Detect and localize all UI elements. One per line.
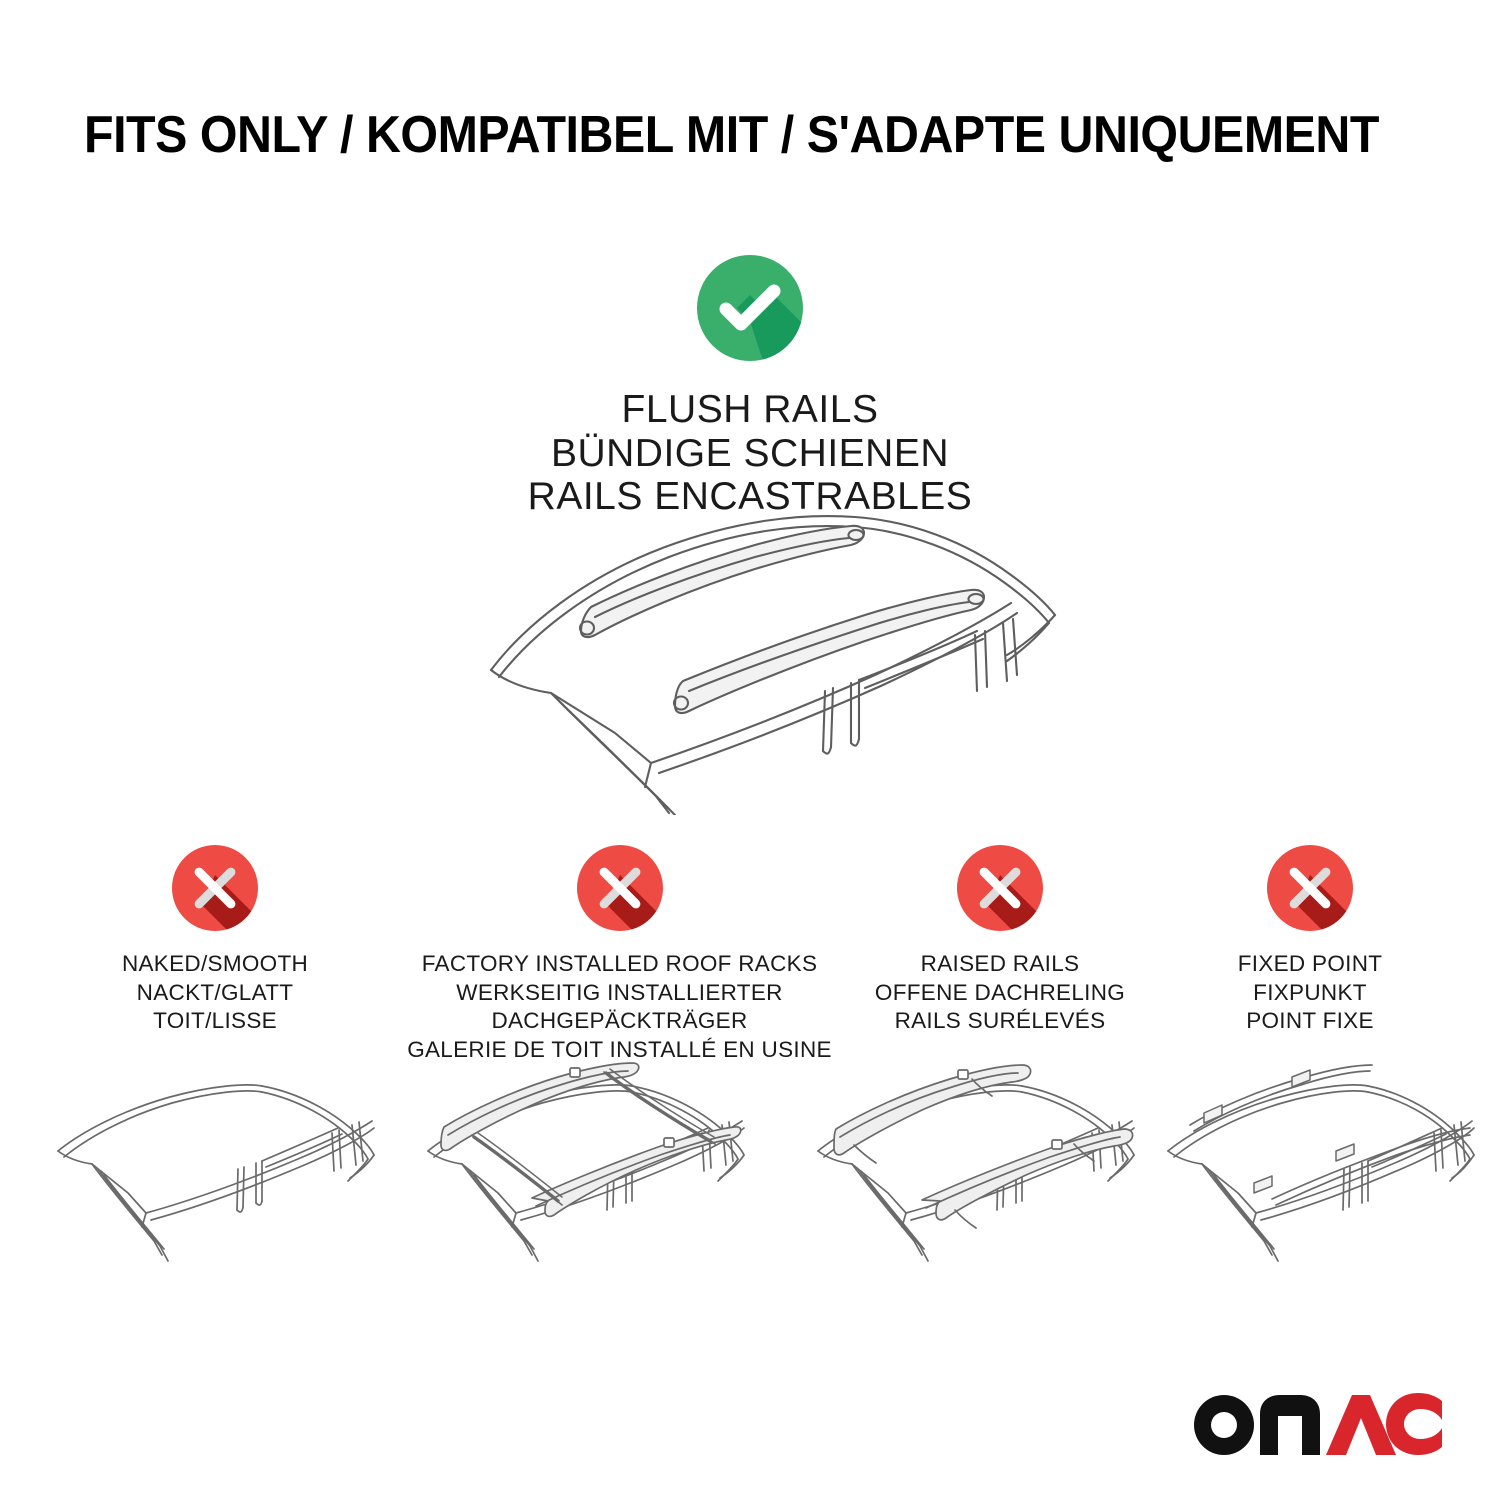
rejected-label-en: FIXED POINT <box>1160 950 1460 979</box>
approved-label-en: FLUSH RAILS <box>0 388 1500 432</box>
car-roof-fixed-point-drawing <box>1160 1055 1500 1290</box>
rejected-label-de-2: DACHGEPÄCKTRÄGER <box>392 1007 847 1036</box>
car-roof-naked-drawing <box>50 1055 400 1290</box>
rejected-label-en: FACTORY INSTALLED ROOF RACKS <box>392 950 847 979</box>
logo-letter-m <box>1260 1395 1320 1455</box>
rejected-label-fr: RAILS SURÉLEVÉS <box>845 1007 1155 1036</box>
car-roof-raised-rails-drawing <box>810 1055 1160 1290</box>
logo-letter-o <box>1194 1395 1254 1455</box>
page-title: FITS ONLY / KOMPATIBEL MIT / S'ADAPTE UN… <box>84 108 1330 163</box>
rejected-item-naked-smooth: NAKED/SMOOTH NACKT/GLATT TOIT/LISSE <box>40 845 390 1036</box>
approved-section: FLUSH RAILS BÜNDIGE SCHIENEN RAILS ENCAS… <box>0 255 1500 519</box>
rejected-label-fr: TOIT/LISSE <box>40 1007 390 1036</box>
rejected-label-de: NACKT/GLATT <box>40 979 390 1008</box>
x-circle-icon <box>172 845 258 931</box>
approved-label-de: BÜNDIGE SCHIENEN <box>0 432 1500 476</box>
rejected-label-fr: POINT FIXE <box>1160 1007 1460 1036</box>
check-circle-icon <box>697 255 803 361</box>
rejected-label-de: FIXPUNKT <box>1160 979 1460 1008</box>
rejected-labels: FIXED POINT FIXPUNKT POINT FIXE <box>1160 950 1460 1036</box>
omac-logo <box>1190 1392 1442 1456</box>
rejected-label-de-1: WERKSEITIG INSTALLIERTER <box>392 979 847 1008</box>
rejected-label-de: OFFENE DACHRELING <box>845 979 1155 1008</box>
rejected-item-factory-roof-racks: FACTORY INSTALLED ROOF RACKS WERKSEITIG … <box>392 845 847 1064</box>
rejected-label-en: RAISED RAILS <box>845 950 1155 979</box>
x-circle-icon <box>957 845 1043 931</box>
rejected-section: NAKED/SMOOTH NACKT/GLATT TOIT/LISSE FACT… <box>0 845 1500 1055</box>
logo-letter-a <box>1326 1395 1396 1455</box>
rejected-item-raised-rails: RAISED RAILS OFFENE DACHRELING RAILS SUR… <box>845 845 1155 1036</box>
car-roof-flush-rails-drawing <box>455 495 1075 815</box>
rejected-item-fixed-point: FIXED POINT FIXPUNKT POINT FIXE <box>1160 845 1460 1036</box>
rejected-labels: FACTORY INSTALLED ROOF RACKS WERKSEITIG … <box>392 950 847 1064</box>
rejected-label-en: NAKED/SMOOTH <box>40 950 390 979</box>
logo-letter-c <box>1386 1393 1442 1455</box>
rejected-labels: RAISED RAILS OFFENE DACHRELING RAILS SUR… <box>845 950 1155 1036</box>
car-roof-factory-rack-drawing <box>420 1055 770 1290</box>
x-circle-icon <box>577 845 663 931</box>
x-circle-icon <box>1267 845 1353 931</box>
rejected-labels: NAKED/SMOOTH NACKT/GLATT TOIT/LISSE <box>40 950 390 1036</box>
